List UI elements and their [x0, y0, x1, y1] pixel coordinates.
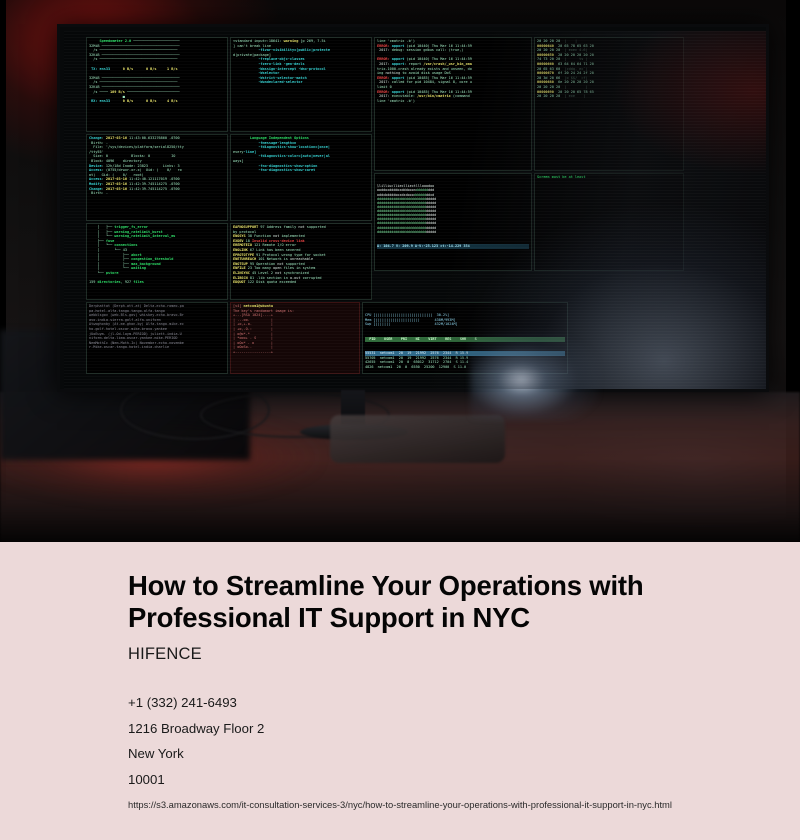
matrix-status-bar: A: 104.7 V: 209.9 A-V:-25.123 ct:-14.229… — [377, 244, 529, 249]
article-card: How to Streamline Your Operations with P… — [0, 542, 800, 840]
brand-name: HIFENCE — [128, 645, 728, 664]
contact-block: +1 (332) 241-6493 1216 Broadway Floor 2 … — [128, 690, 728, 793]
terminal-pane-nato-alphabet: Derphattat (Derph-att-at) Delta-echo-rom… — [86, 302, 228, 374]
terminal-pane-matrix: ḷlilliucllieclliectlllooodooooddoxddddox… — [374, 173, 532, 271]
monitor: Speedometer 2.0 ────────────────────── 3… — [57, 24, 769, 392]
terminal-pane-speedometer: Speedometer 2.0 ────────────────────── 3… — [86, 37, 228, 132]
terminal-pane-language-options: Language Independent Options -fmessage-l… — [230, 134, 372, 221]
monitor-screen: Speedometer 2.0 ────────────────────── 3… — [64, 31, 768, 391]
terminal-pane-apport-log: line 'cmatrix -b') ERROR: apport (pid 10… — [374, 37, 532, 171]
terminal-pane-screen-message: Screen must be at least — [534, 173, 684, 271]
page-root: Speedometer 2.0 ────────────────────── 3… — [0, 0, 800, 840]
terminal-pane-tree: │ ├── trigger_fs_error │ ├── warning_rat… — [86, 223, 228, 300]
terminal-pane-compiler-warnings: <standard input>:18641: warning [p 269, … — [230, 37, 372, 132]
source-url[interactable]: https://s3.amazonaws.com/it-consultation… — [128, 799, 728, 811]
page-title: How to Streamline Your Operations with P… — [128, 570, 728, 634]
htop-column-headers: PID USER PRI NI VIRT RES SHR S — [365, 337, 565, 342]
keyboard — [330, 415, 505, 463]
contact-address-line1: 1216 Broadway Floor 2 — [128, 716, 728, 742]
hero-image: Speedometer 2.0 ────────────────────── 3… — [0, 0, 800, 542]
terminal-pane-stat: Change: 2017-03-16 11:43:00.633276860 -0… — [86, 134, 228, 221]
contact-phone[interactable]: +1 (332) 241-6493 — [128, 690, 728, 716]
contact-zip: 10001 — [128, 767, 728, 793]
htop-resource-bars: CPU [||||||||||||||||||||||||||| 30.2%]M… — [365, 313, 565, 327]
terminal-pane-ssh-randomart: [v4] netcom1@ubuntu The key's randomart … — [230, 302, 360, 374]
htop-process-rows: 55531 netcom1 20 19 21992 2576 2344 R 15… — [365, 351, 565, 369]
terminal-pane-errno-list: EAFNOSUPPORT 97 Address family not suppo… — [230, 223, 372, 300]
terminal-pane-htop: CPU [||||||||||||||||||||||||||| 30.2%]M… — [362, 302, 568, 374]
contact-city: New York — [128, 741, 728, 767]
matrix-character-grid: ḷlilliucllieclliectlllooodooooddoxddddox… — [377, 184, 529, 234]
terminal-pane-hexdump: 20 20 20 20 | | 00000640 20 65 78 65 63 … — [534, 37, 684, 171]
